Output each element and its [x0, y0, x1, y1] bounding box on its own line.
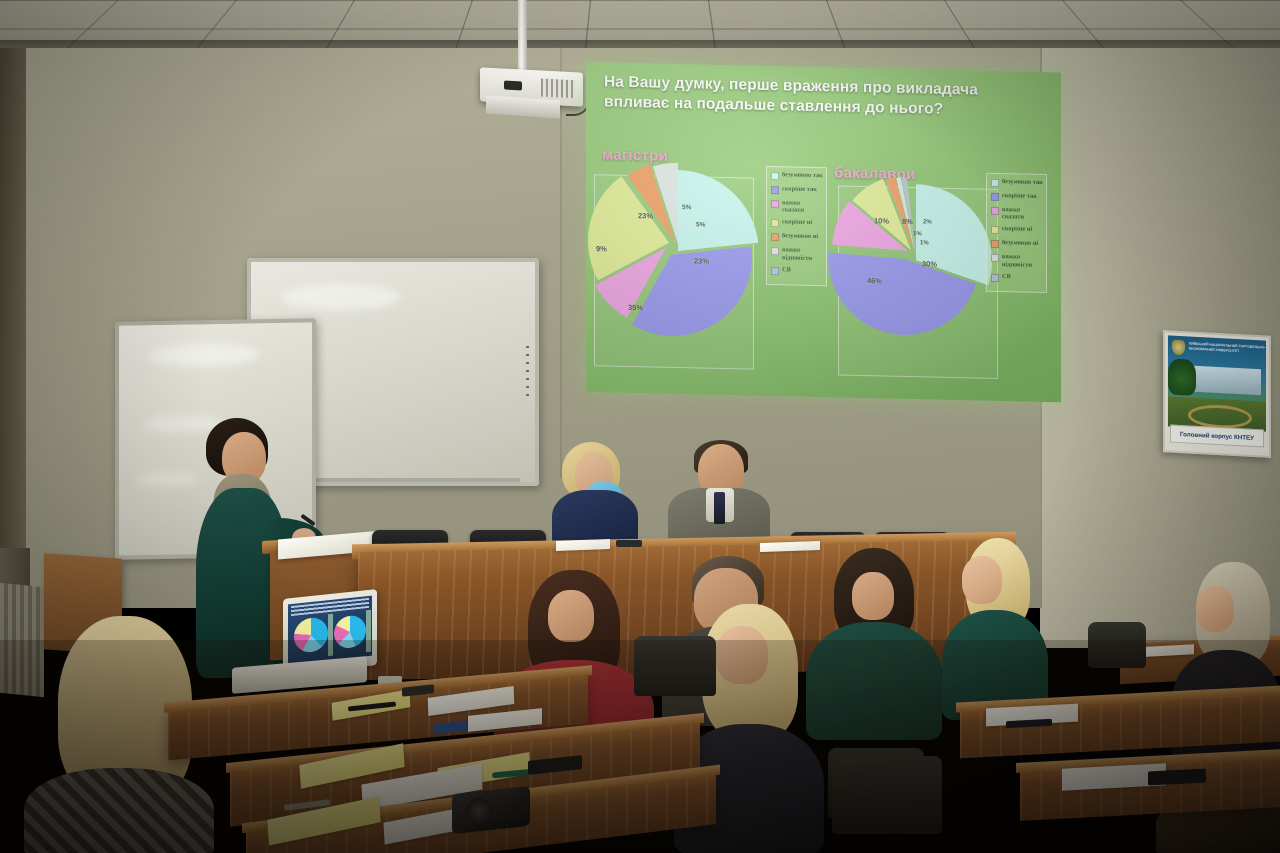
pie-label: 5%: [682, 204, 691, 211]
pie-label: 23%: [694, 256, 709, 265]
slide-title: На Вашу думку, перше враження про виклад…: [604, 72, 1034, 120]
legend-item: безумовно ні: [991, 239, 1043, 249]
pie-label: 46%: [867, 276, 882, 285]
legend-bachelors: безумовно так скоріше так важко сказати …: [986, 173, 1047, 293]
poster-caption-box: Головний корпус КНТЕУ: [1170, 425, 1264, 448]
pie-label: 35%: [628, 303, 643, 312]
legend-item: безумовно ні: [771, 232, 823, 242]
pie-label: 23%: [638, 211, 653, 220]
camera-lens-icon: [466, 798, 492, 824]
projector-connector: [504, 81, 522, 91]
pie-chart-bachelors: [834, 179, 986, 334]
chair-back: [634, 636, 716, 696]
poster-trees: [1168, 358, 1196, 395]
legend-swatch-icon: [771, 172, 779, 180]
legend-swatch-icon: [771, 267, 779, 275]
laptop-legend: [366, 610, 371, 653]
legend-item: скоріше так: [991, 192, 1043, 202]
pie-label: 1%: [913, 231, 922, 237]
panel-man-tie: [714, 492, 725, 524]
pie-label: 30%: [922, 259, 937, 268]
legend-swatch-icon: [991, 193, 999, 201]
university-emblem-icon: [1172, 340, 1185, 356]
eyeglasses-icon: [616, 540, 642, 547]
legend-item: безумовно так: [991, 178, 1043, 188]
legend-swatch-icon: [771, 186, 779, 194]
legend-swatch-icon: [771, 247, 779, 255]
laptop-pie-left: [294, 616, 328, 654]
chair-back: [1088, 622, 1146, 668]
pie-chart-masters: [592, 166, 754, 332]
legend-swatch-icon: [771, 233, 779, 241]
pie-label: 8%: [902, 217, 913, 226]
legend-item: безумовно так: [771, 171, 823, 181]
legend-swatch-icon: [991, 179, 999, 187]
laptop-legend: [328, 614, 333, 657]
legend-masters: безумовно так скоріше так важко сказати …: [766, 166, 827, 286]
legend-item: СВ: [771, 266, 823, 276]
laptop-pie-right: [334, 614, 366, 649]
legend-swatch-icon: [991, 254, 999, 262]
pie-label: 9%: [596, 244, 607, 253]
wall-seam-2: [560, 48, 562, 478]
legend-item: скоріше ні: [771, 218, 823, 228]
wall-poster-knteu: КИЇВСЬКИЙ НАЦІОНАЛЬНИЙ ТОРГОВЕЛЬНО-ЕКОНО…: [1163, 330, 1271, 458]
paper-sheet: [556, 539, 610, 551]
lecture-room-photo: На Вашу думку, перше враження про виклад…: [0, 0, 1280, 853]
pie-label: 2%: [923, 219, 932, 225]
legend-swatch-icon: [991, 274, 999, 282]
legend-item: важко сказати: [991, 206, 1043, 221]
pie-label: 1%: [920, 240, 929, 246]
legend-item: важко відповісти: [991, 253, 1043, 268]
radiator: [0, 583, 44, 698]
legend-item: скоріше так: [771, 185, 823, 195]
projector-mount-pole: [518, 0, 527, 72]
legend-item: важко сказати: [771, 199, 823, 214]
legend-swatch-icon: [991, 207, 999, 215]
legend-swatch-icon: [771, 200, 779, 208]
legend-item: важко відповісти: [771, 246, 823, 261]
projected-slide: На Вашу думку, перше враження про виклад…: [586, 62, 1061, 402]
legend-item: СВ: [991, 273, 1043, 283]
laptop-screen: [288, 596, 372, 665]
poster-caption: Головний корпус КНТЕУ: [1180, 431, 1254, 442]
chair-back: [832, 756, 942, 834]
legend-swatch-icon: [991, 226, 999, 234]
legend-swatch-icon: [771, 219, 779, 227]
legend-swatch-icon: [991, 240, 999, 248]
pie-label: 10%: [874, 216, 889, 225]
legend-item: скоріше ні: [991, 225, 1043, 235]
whiteboard-marker-slots-icon: [526, 346, 529, 402]
pie-label: 5%: [696, 221, 705, 228]
